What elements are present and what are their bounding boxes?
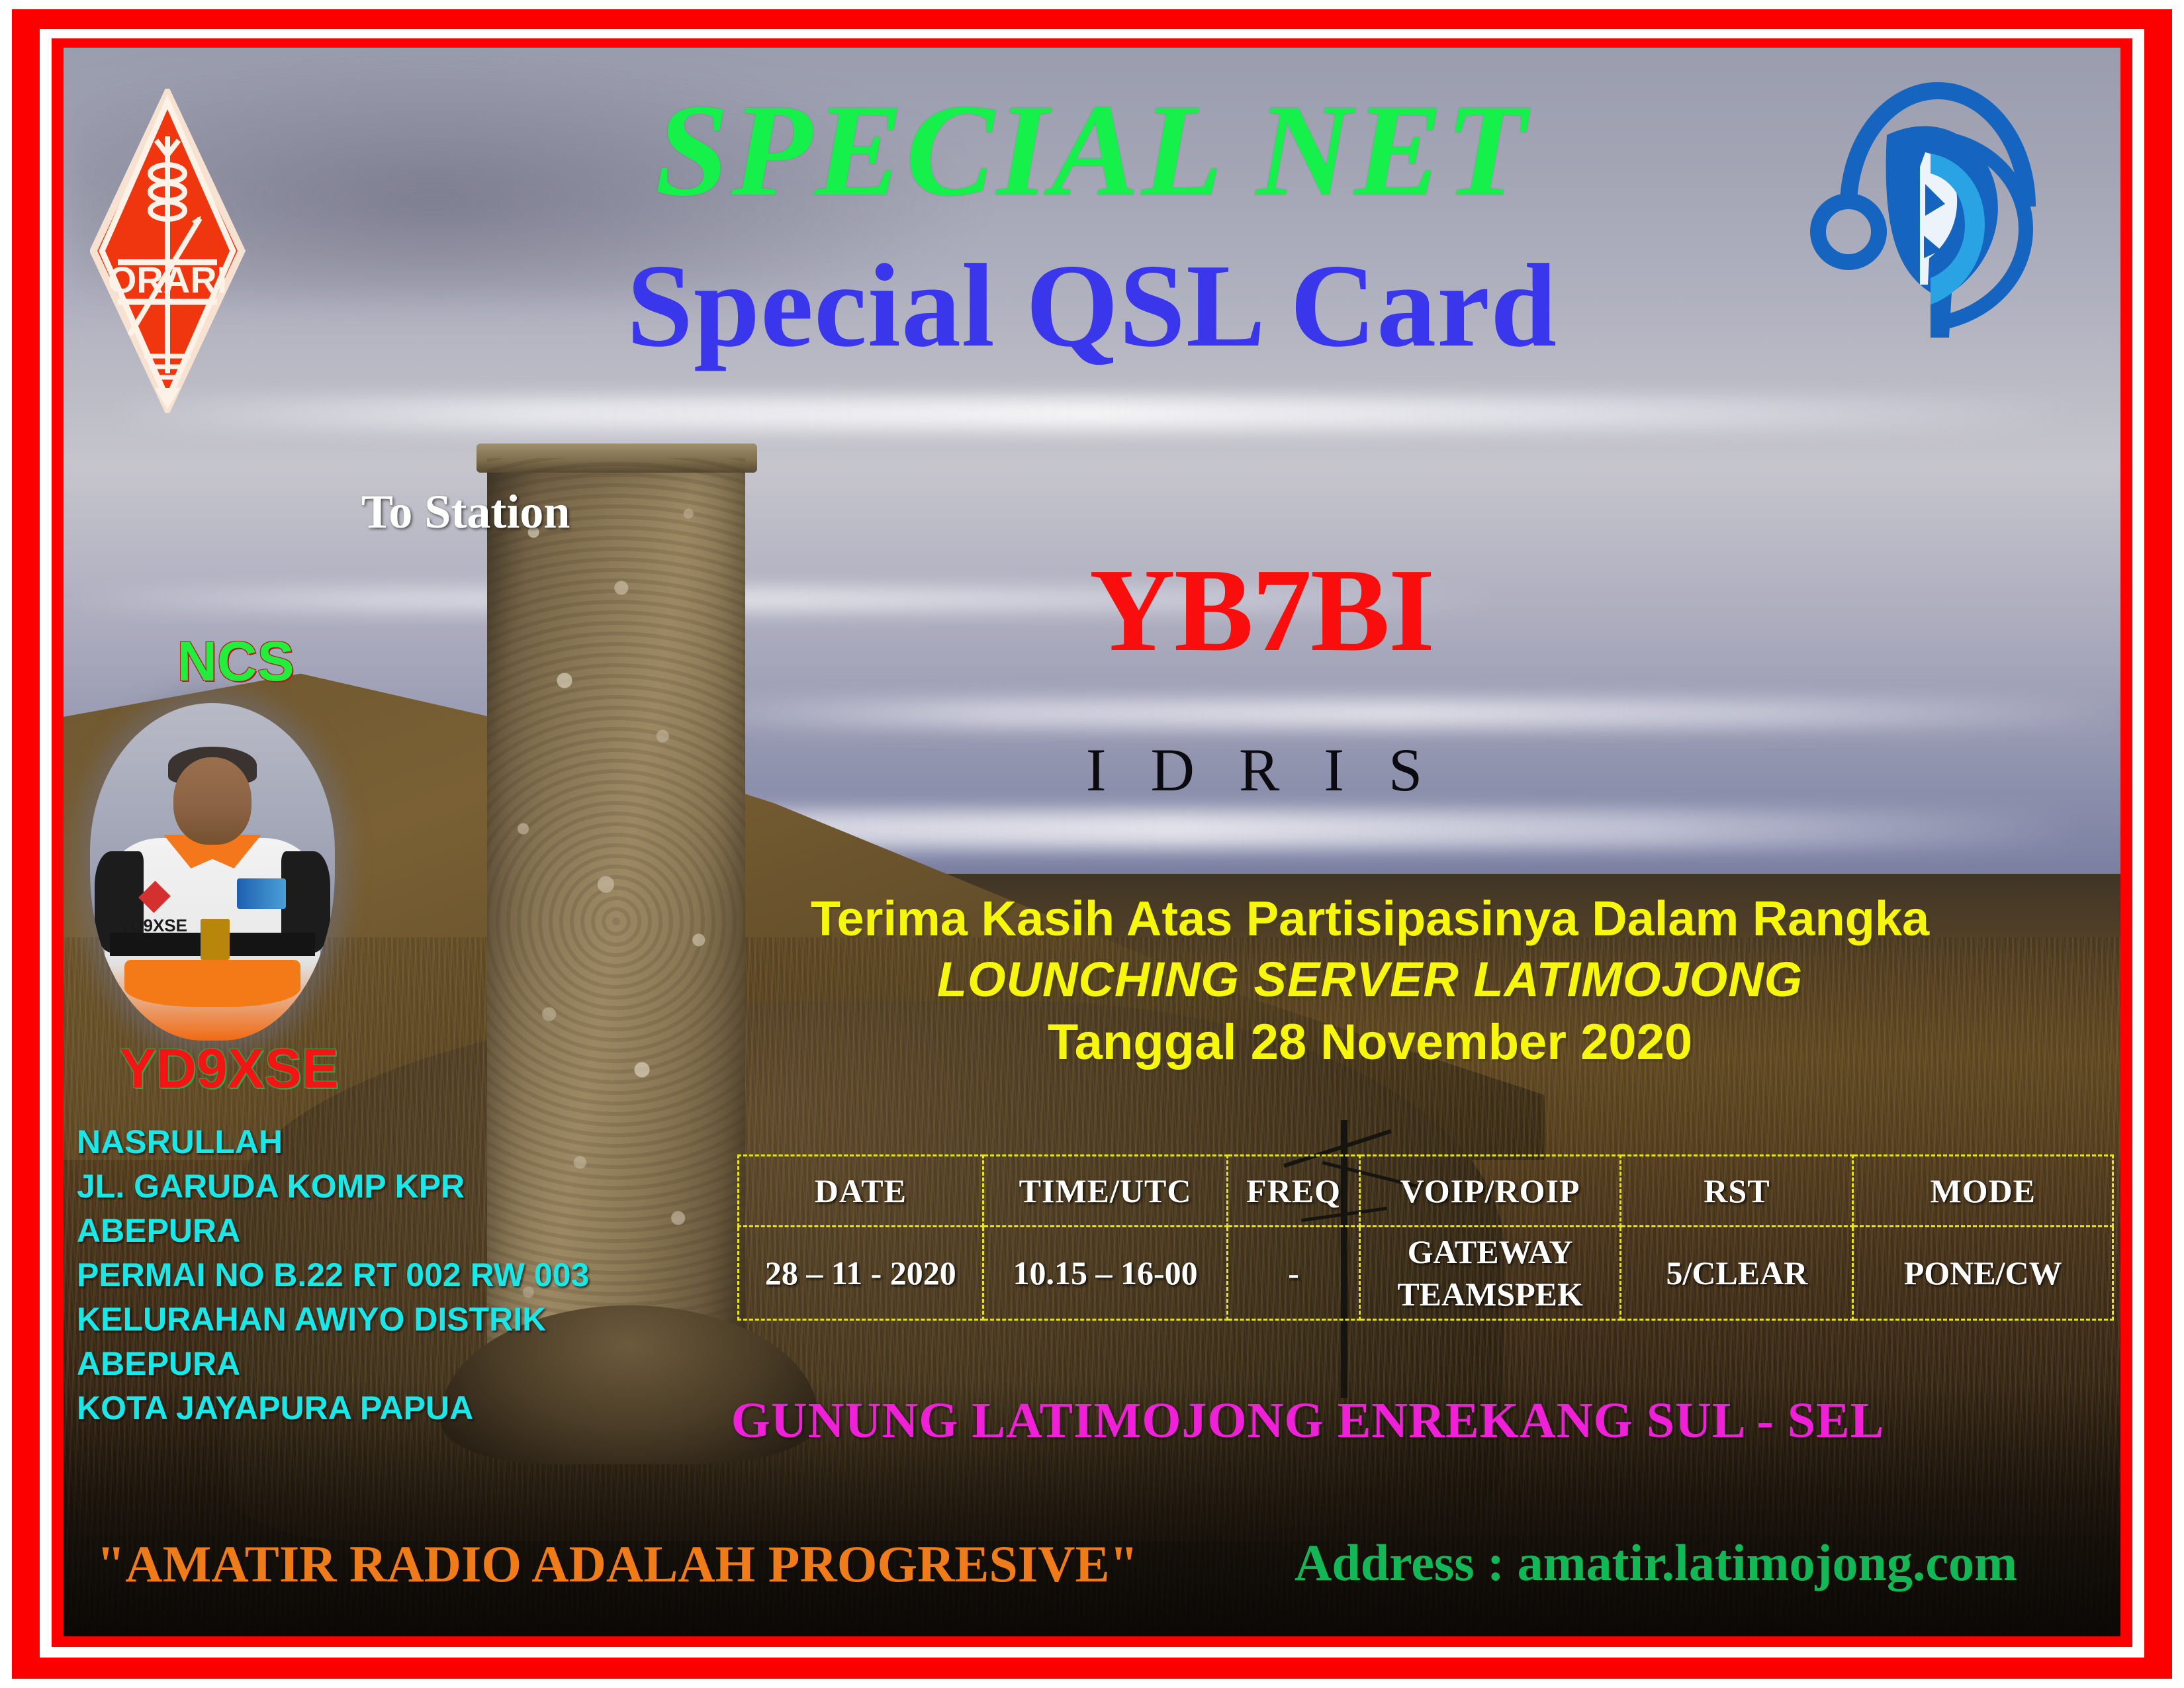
card-content: ORARI SPECIAL NET Special QSL Card: [64, 48, 2120, 1636]
cell-voip: GATEWAY TEAMSPEK: [1359, 1227, 1621, 1320]
ncs-label: NCS: [140, 633, 332, 689]
operator-name: I D R I S: [931, 739, 1592, 800]
col-header-date: DATE: [739, 1156, 983, 1227]
event-message: Terima Kasih Atas Partisipasinya Dalam R…: [659, 888, 2081, 1075]
table-header-row: DATE TIME/UTC FREQ VOIP/ROIP RST MODE: [739, 1156, 2113, 1227]
col-header-freq: FREQ: [1228, 1156, 1359, 1227]
table-row: 28 – 11 - 2020 10.15 – 16-00 - GATEWAY T…: [739, 1227, 2113, 1320]
to-station-label: To Station: [361, 485, 570, 539]
avatar-id-card: [201, 919, 230, 959]
address-line: JL. GARUDA KOMP KPR: [77, 1164, 606, 1209]
address-line: PERMAI NO B.22 RT 002 RW 003: [77, 1253, 606, 1297]
operator-avatar: YD9XSE: [90, 703, 335, 1041]
ncs-callsign: YD9XSE: [103, 1041, 355, 1096]
avatar-orange-sash: [124, 960, 300, 1007]
cell-voip-line2: TEAMSPEK: [1361, 1273, 1620, 1315]
avatar-callsign-tag: YD9XSE: [119, 915, 187, 936]
address-line: KOTA JAYAPURA PAPUA: [77, 1386, 606, 1430]
cell-freq: -: [1228, 1227, 1359, 1320]
address-line: ABEPURA: [77, 1209, 606, 1253]
cell-mode: PONE/CW: [1853, 1227, 2113, 1320]
cell-date: 28 – 11 - 2020: [739, 1227, 983, 1320]
cell-voip-line1: GATEWAY: [1361, 1231, 1620, 1273]
avatar-face: [173, 757, 251, 845]
station-callsign: YB7BI: [931, 551, 1592, 670]
address-line: NASRULLAH: [77, 1120, 606, 1164]
thanks-line: Terima Kasih Atas Partisipasinya Dalam R…: [659, 888, 2081, 949]
slogan-text: "AMATIR RADIO ADALAH PROGRESIVE": [97, 1538, 1138, 1590]
qso-log-table: DATE TIME/UTC FREQ VOIP/ROIP RST MODE 28…: [737, 1154, 2114, 1321]
location-caption: GUNUNG LATIMOJONG ENREKANG SUL - SEL: [646, 1395, 1970, 1446]
address-line: KELURAHAN AWIYO DISTRIK: [77, 1297, 606, 1342]
address-line: ABEPURA: [77, 1342, 606, 1386]
mailing-address: NASRULLAH JL. GARUDA KOMP KPR ABEPURA PE…: [77, 1120, 606, 1430]
website-address: Address : amatir.latimojong.com: [1295, 1537, 2017, 1589]
subtitle: Special QSL Card: [64, 246, 2120, 365]
event-date: Tanggal 28 November 2020: [659, 1010, 2081, 1076]
event-name: LOUNCHING SERVER LATIMOJONG: [659, 949, 2081, 1010]
col-header-rst: RST: [1621, 1156, 1853, 1227]
col-header-time: TIME/UTC: [983, 1156, 1228, 1227]
col-header-voip: VOIP/ROIP: [1359, 1156, 1621, 1227]
avatar-badge-blue: [237, 878, 286, 909]
col-header-mode: MODE: [1853, 1156, 2113, 1227]
cell-rst: 5/CLEAR: [1621, 1227, 1853, 1320]
qsl-card: ORARI SPECIAL NET Special QSL Card: [0, 0, 2184, 1688]
cell-time: 10.15 – 16-00: [983, 1227, 1228, 1320]
page-title: SPECIAL NET: [64, 85, 2120, 217]
